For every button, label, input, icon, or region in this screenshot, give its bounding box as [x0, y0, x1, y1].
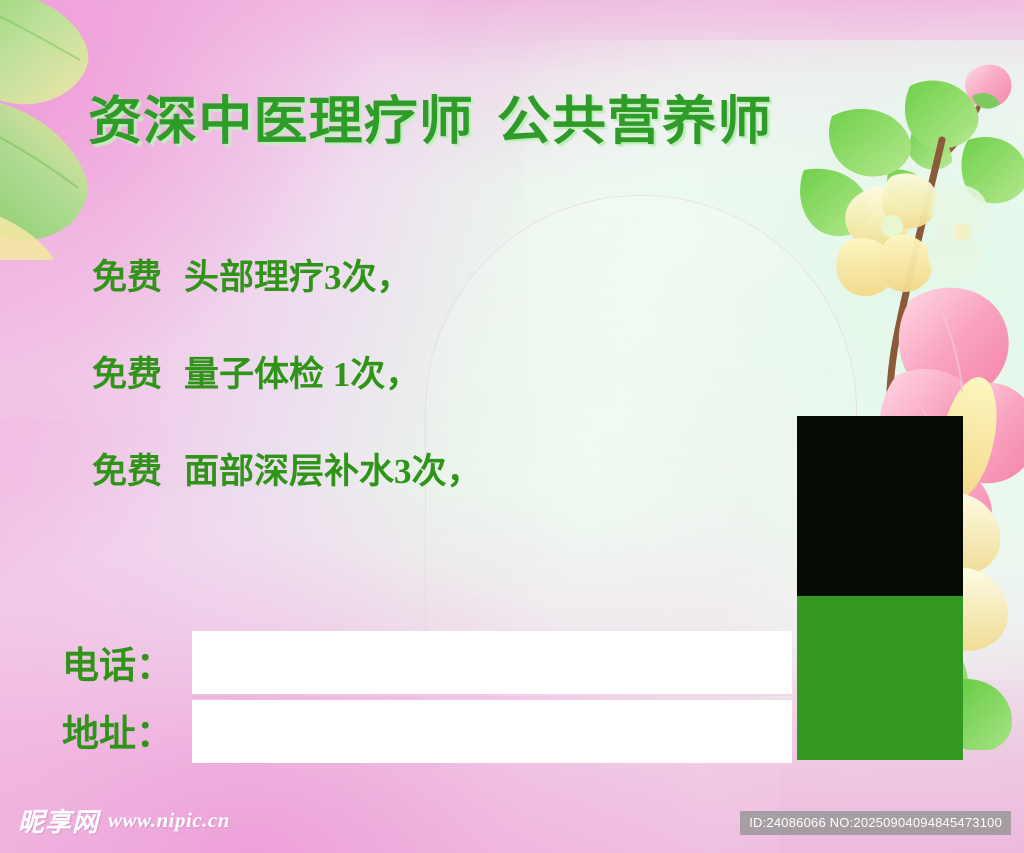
address-input[interactable] — [192, 700, 792, 763]
benefit-lead: 免费 — [92, 452, 162, 491]
page-title-part2: 公共营养师 — [497, 93, 773, 151]
poster-canvas: 资深中医理疗师公共营养师 免费头部理疗3次， 免费量子体检 1次， 免费面部深层… — [0, 0, 1024, 853]
id-watermark: ID:24086066 NO:20250904094845473100 — [740, 811, 1011, 835]
green-image-placeholder — [797, 596, 963, 760]
benefit-detail: 头部理疗3次， — [184, 258, 412, 297]
benefit-detail: 量子体检 1次， — [184, 355, 420, 394]
list-item: 免费量子体检 1次， — [92, 357, 792, 392]
phone-label: 电话： — [62, 635, 173, 689]
black-image-placeholder — [797, 416, 963, 596]
site-watermark: 昵享网 www.nipic.cn — [18, 802, 230, 839]
page-title: 资深中医理疗师公共营养师 — [88, 96, 772, 148]
contact-row-phone: 电话： — [62, 628, 792, 696]
benefit-lead: 免费 — [92, 258, 162, 297]
benefit-lead: 免费 — [92, 355, 162, 394]
contact-row-address: 地址： — [62, 696, 792, 764]
page-title-part1: 资深中医理疗师 — [88, 93, 474, 151]
benefit-list: 免费头部理疗3次， 免费量子体检 1次， 免费面部深层补水3次， — [92, 260, 792, 489]
list-item: 免费面部深层补水3次， — [92, 454, 792, 489]
site-watermark-name: 昵享网 — [18, 802, 99, 839]
benefit-detail: 面部深层补水3次， — [184, 452, 482, 491]
list-item: 免费头部理疗3次， — [92, 260, 792, 295]
phone-input[interactable] — [192, 631, 792, 694]
address-label: 地址： — [62, 703, 173, 757]
site-watermark-url: www.nipic.cn — [108, 808, 230, 833]
contact-block: 电话： 地址： — [62, 628, 792, 764]
